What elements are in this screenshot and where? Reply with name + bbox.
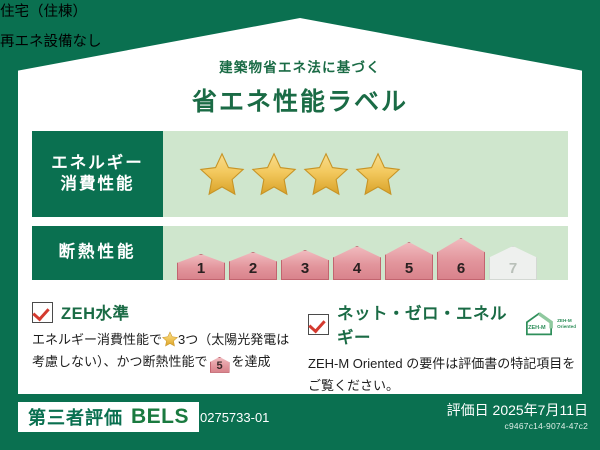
page-title: 建築物省エネ法に基づく 省エネ性能ラベル bbox=[0, 56, 600, 118]
grade-badge-6: 6 bbox=[437, 238, 485, 280]
grade-badge-7: 7 bbox=[489, 246, 537, 280]
checkbox-checked-icon[interactable] bbox=[32, 302, 53, 323]
energy-label-line1: エネルギー bbox=[51, 153, 144, 174]
grade-badge-5-value: 5 bbox=[405, 260, 413, 277]
energy-performance-row: エネルギー 消費性能 bbox=[32, 131, 568, 217]
star-icon bbox=[303, 151, 349, 197]
grade-badge-3-value: 3 bbox=[301, 260, 309, 277]
grade-badge-1: 1 bbox=[177, 254, 225, 280]
grade-badge-3: 3 bbox=[281, 250, 329, 280]
star-rating bbox=[163, 151, 401, 197]
bels-jp-label: 第三者評価 bbox=[28, 404, 123, 430]
grade-inline-badge: 5 bbox=[210, 357, 230, 373]
svg-text:ZEH-M: ZEH-M bbox=[528, 325, 546, 331]
energy-performance-label: 住宅（住棟） 再エネ設備なし 建築物省エネ法に基づく 省エネ性能ラベル エネルギ… bbox=[0, 0, 600, 450]
evaluation-date: 評価日 2025年7月11日 bbox=[447, 400, 588, 420]
zeh-m-house-icon: ZEH-M bbox=[524, 311, 554, 337]
footer-bar: 第三者評価 BELS 0275733-01 評価日 2025年7月11日 c94… bbox=[0, 394, 600, 450]
zeh-body-part3: を達成 bbox=[232, 354, 271, 369]
energy-label-line2: 消費性能 bbox=[61, 174, 135, 195]
net-zero-criteria-block: ネット・ゼロ・エネルギー ZEH-M ZEH-M Oriented ZEH-M … bbox=[308, 300, 576, 397]
net-zero-criteria-body: ZEH-M Oriented の要件は評価書の特記項目をご覧ください。 bbox=[308, 353, 576, 397]
insulation-grade-scale: 1 2 3 4 5 6 7 bbox=[163, 226, 537, 280]
star-icon bbox=[199, 151, 245, 197]
grade-inline-value: 5 bbox=[216, 360, 222, 372]
grade-badge-2: 2 bbox=[229, 252, 277, 280]
checkbox-checked-icon[interactable] bbox=[308, 314, 329, 335]
evaluation-uuid: c9467c14-9074-47c2 bbox=[505, 421, 588, 431]
zeh-criteria-body: エネルギー消費性能で3つ（太陽光発電は考慮しない）、かつ断熱性能で5を達成 bbox=[32, 329, 298, 373]
insulation-performance-value: 1 2 3 4 5 6 7 bbox=[163, 226, 568, 280]
building-type-tag: 住宅（住棟） bbox=[0, 0, 112, 30]
grade-badge-4-value: 4 bbox=[353, 260, 361, 277]
star-icon bbox=[162, 331, 178, 347]
grade-badge-5: 5 bbox=[385, 242, 433, 280]
net-zero-criteria-title: ネット・ゼロ・エネルギー bbox=[337, 300, 514, 348]
bels-number: 0275733-01 bbox=[200, 402, 269, 432]
bels-badge: 第三者評価 BELS bbox=[18, 402, 199, 432]
zeh-m-logo-sub: ZEH-M Oriented bbox=[557, 318, 576, 329]
title-subtitle: 建築物省エネ法に基づく bbox=[0, 56, 600, 76]
zeh-criteria-block: ZEH水準 エネルギー消費性能で3つ（太陽光発電は考慮しない）、かつ断熱性能で5… bbox=[32, 300, 298, 373]
net-zero-criteria-header: ネット・ゼロ・エネルギー ZEH-M ZEH-M Oriented bbox=[308, 300, 576, 348]
star-icon bbox=[355, 151, 401, 197]
title-main: 省エネ性能ラベル bbox=[0, 82, 600, 118]
energy-performance-value bbox=[163, 131, 568, 217]
grade-badge-7-value: 7 bbox=[509, 260, 517, 277]
zeh-body-part1: エネルギー消費性能で bbox=[32, 332, 162, 347]
bels-en-label: BELS bbox=[131, 405, 189, 429]
grade-badge-1-value: 1 bbox=[197, 260, 205, 277]
energy-performance-label: エネルギー 消費性能 bbox=[32, 131, 163, 217]
grade-badge-2-value: 2 bbox=[249, 260, 257, 277]
star-icon bbox=[251, 151, 297, 197]
grade-badge-6-value: 6 bbox=[457, 260, 465, 277]
insulation-label-text: 断熱性能 bbox=[59, 242, 137, 263]
insulation-performance-row: 断熱性能 1 2 3 4 5 6 7 bbox=[32, 226, 568, 280]
insulation-performance-label: 断熱性能 bbox=[32, 226, 163, 280]
grade-badge-4: 4 bbox=[333, 246, 381, 280]
zeh-criteria-title: ZEH水準 bbox=[61, 300, 130, 324]
zeh-criteria-header: ZEH水準 bbox=[32, 300, 298, 324]
zeh-m-logo: ZEH-M ZEH-M Oriented bbox=[524, 311, 576, 337]
